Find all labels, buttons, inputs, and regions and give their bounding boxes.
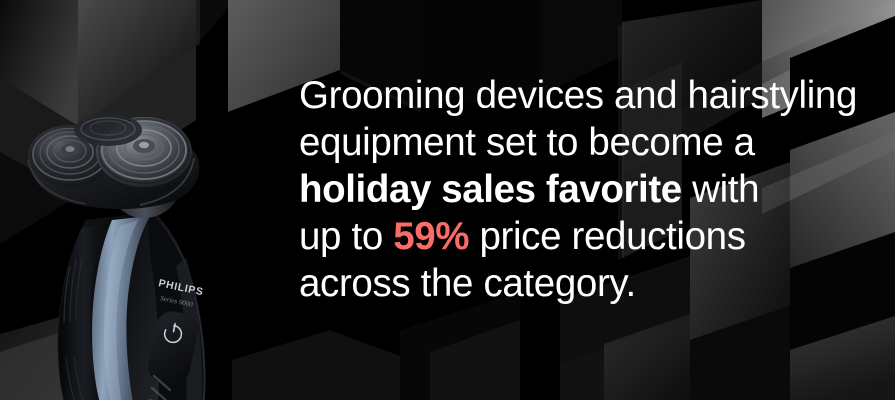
headline-line-5: across the category.: [299, 260, 879, 307]
headline-line-3: holiday sales favorite with: [299, 166, 879, 213]
headline-copy: Grooming devices and hairstyling equipme…: [299, 72, 879, 307]
headline-line-4-pre: up to: [299, 215, 393, 258]
headline-line-1-text: Grooming devices and hairstyling: [299, 74, 857, 117]
headline-line-4-post: price reductions: [469, 215, 746, 258]
promo-banner: PHILIPS Series 9000: [0, 0, 895, 400]
bg-seam-1: [196, 0, 200, 46]
headline-line-4: up to 59% price reductions: [299, 213, 879, 260]
headline-line-3-rest: with: [682, 168, 759, 211]
headline-line-2-text: equipment set to become a: [299, 121, 755, 164]
discount-percentage: 59%: [393, 215, 469, 258]
headline-emphasis-phrase: holiday sales favorite: [299, 168, 682, 211]
headline-line-2: equipment set to become a: [299, 119, 879, 166]
headline-line-1: Grooming devices and hairstyling: [299, 72, 879, 119]
headline-line-5-text: across the category.: [299, 262, 636, 305]
